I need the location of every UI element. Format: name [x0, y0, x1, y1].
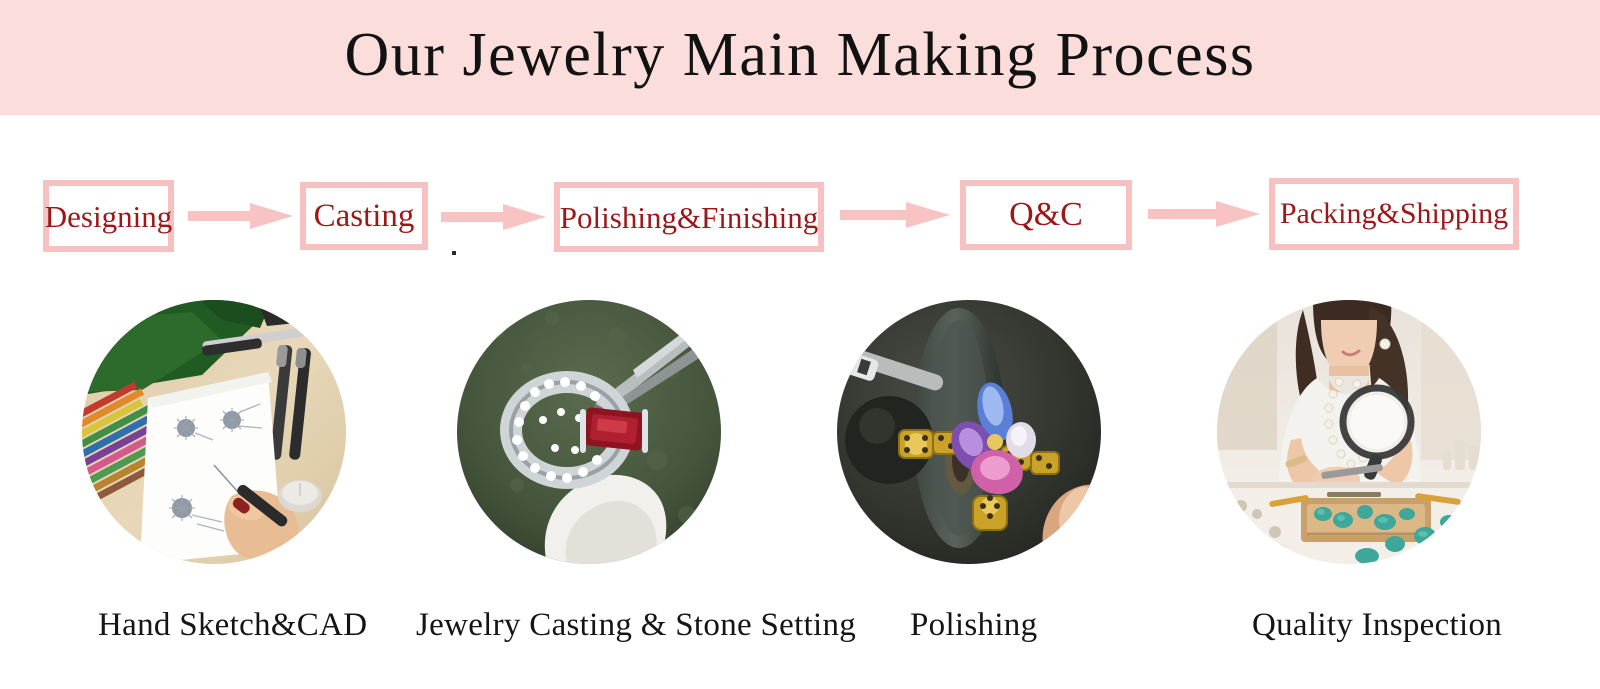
gallery-item [1217, 300, 1481, 564]
gallery-item [82, 300, 346, 564]
process-flow-row: Designing Casting Polishing&Finishing Q&… [0, 115, 1600, 275]
process-step-casting[interactable]: Casting [300, 182, 428, 250]
photo-captions-row: Hand Sketch&CAD Jewelry Casting & Stone … [0, 595, 1600, 655]
photo-caption: Polishing [910, 609, 1037, 642]
photo-caption: Jewelry Casting & Stone Setting [416, 609, 856, 642]
page-header-banner: Our Jewelry Main Making Process [0, 0, 1600, 115]
stone-setting-with-tweezers-photo [457, 300, 721, 564]
stray-dot-artifact [452, 251, 456, 255]
quality-inspection-magnifier-photo [1217, 300, 1481, 564]
page-title: Our Jewelry Main Making Process [345, 24, 1256, 92]
process-step-label: Q&C [1009, 198, 1083, 232]
process-photo-gallery [0, 295, 1600, 585]
photo-caption: Hand Sketch&CAD [98, 609, 367, 642]
process-step-label: Packing&Shipping [1280, 199, 1508, 229]
process-step-qc[interactable]: Q&C [960, 180, 1132, 250]
process-step-label: Polishing&Finishing [560, 202, 818, 233]
process-step-polishing-finishing[interactable]: Polishing&Finishing [554, 182, 824, 252]
process-step-packing-shipping[interactable]: Packing&Shipping [1269, 178, 1519, 250]
jewelry-process-infographic: Our Jewelry Main Making Process Designin… [0, 0, 1600, 689]
hand-sketching-jewelry-design-photo [82, 300, 346, 564]
arrow-right-icon [840, 195, 950, 235]
process-step-designing[interactable]: Designing [43, 180, 174, 252]
photo-caption: Quality Inspection [1252, 609, 1502, 642]
polishing-gemstone-bracelet-photo [837, 300, 1101, 564]
process-step-label: Casting [314, 200, 415, 233]
process-step-label: Designing [45, 201, 172, 232]
arrow-right-icon [441, 197, 546, 237]
gallery-item [457, 300, 721, 564]
arrow-right-icon [1148, 194, 1260, 234]
arrow-right-icon [188, 196, 293, 236]
gallery-item [837, 300, 1101, 564]
